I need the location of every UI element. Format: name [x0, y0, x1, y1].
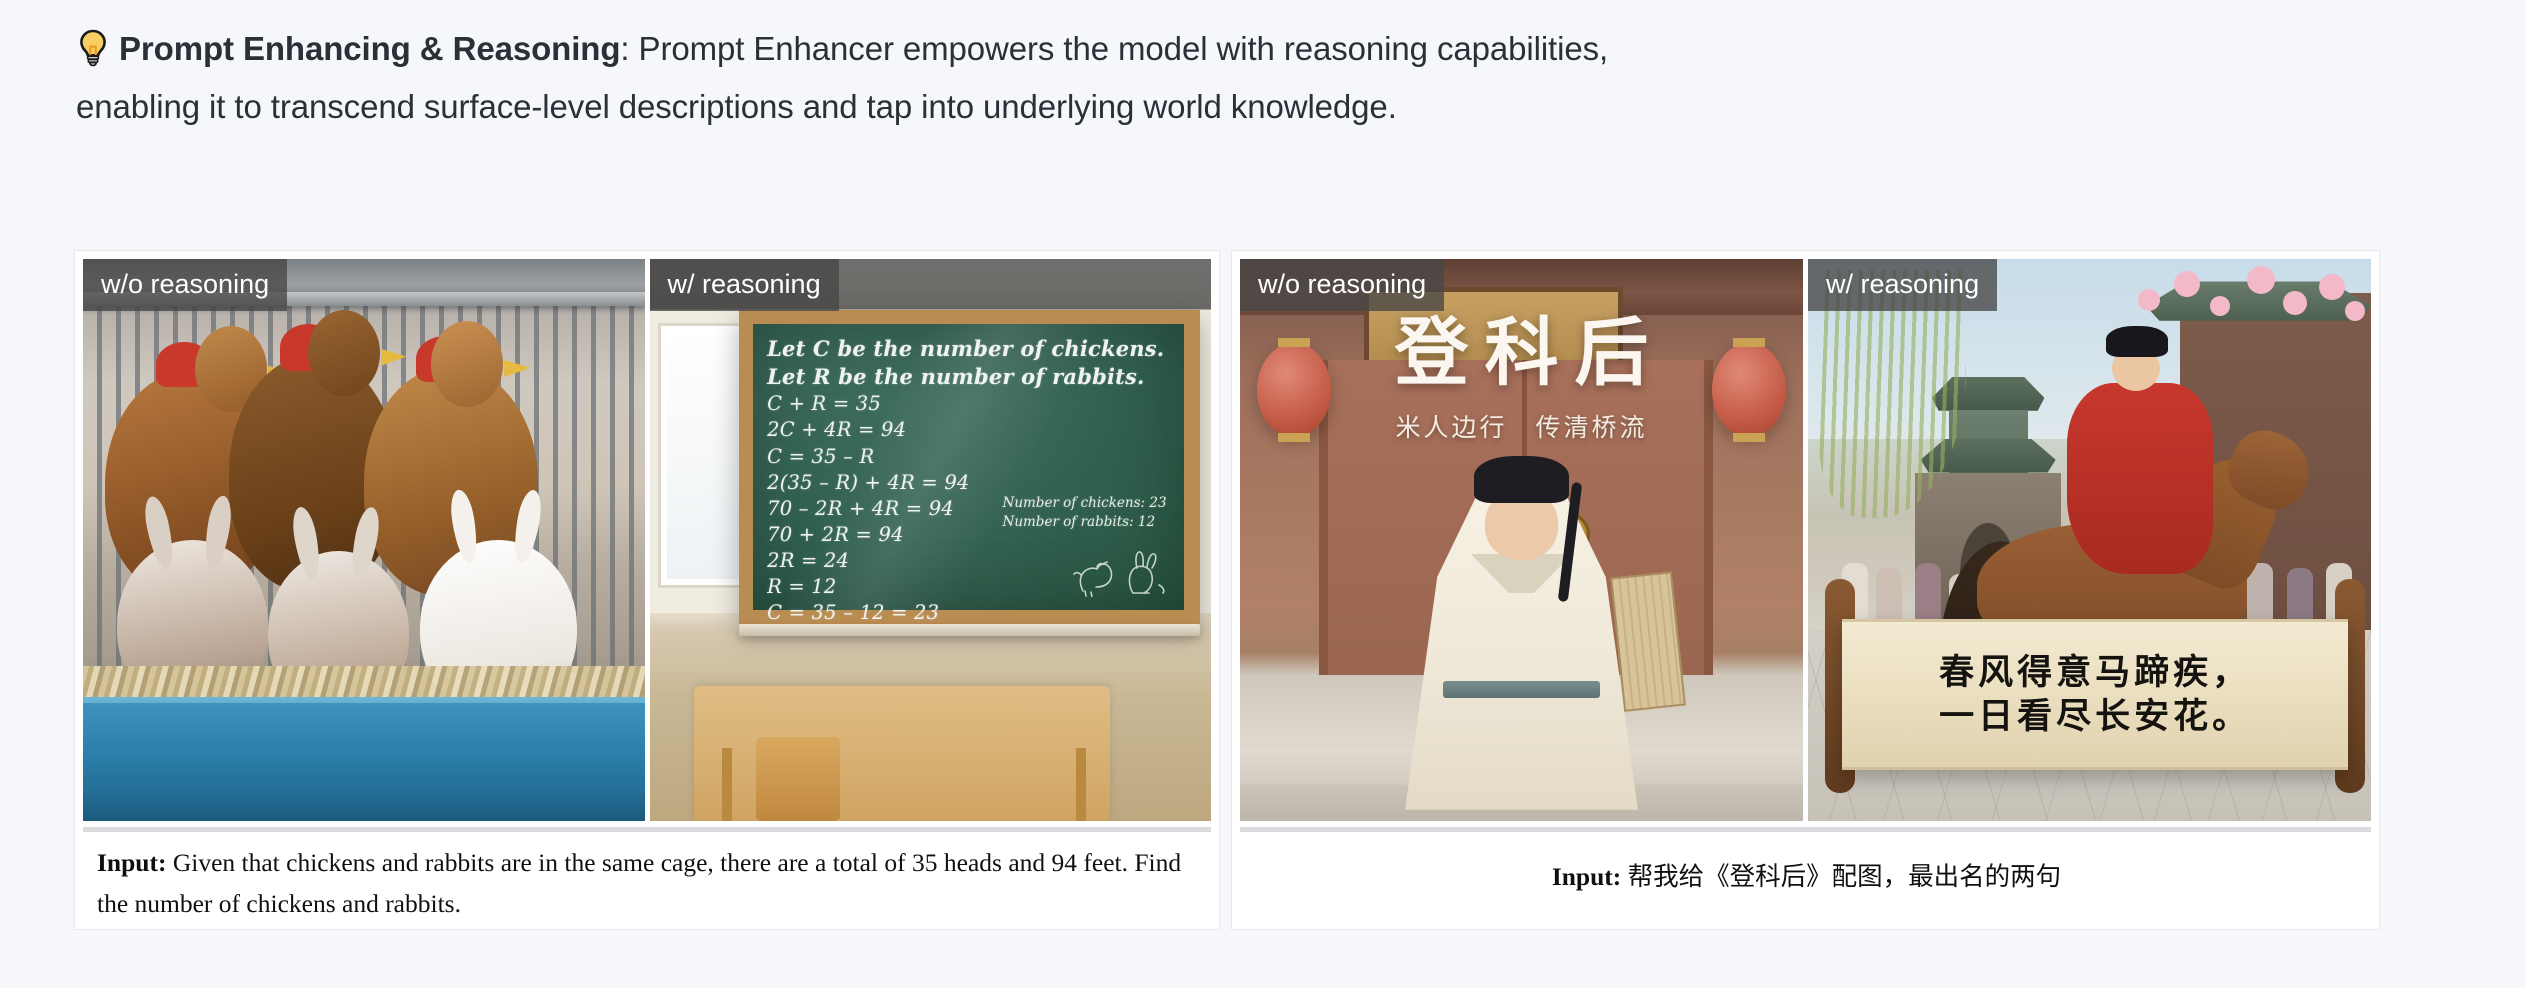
- caption-chickens-rabbits: Input: Given that chickens and rabbits a…: [83, 832, 1211, 930]
- image-row-2: 登科后 米人边行 传清桥流 w/o reasoning: [1240, 259, 2371, 821]
- blackboard-answer-note: Number of chickens: 23 Number of rabbits…: [1003, 494, 1167, 533]
- street-scene-art: 春风得意马蹄疾， 一日看尽长安花。: [1808, 259, 2371, 821]
- blossom: [2247, 266, 2275, 294]
- blackboard-line-1: Let R be the number of rabbits.: [767, 363, 1171, 391]
- blackboard-line-5: 2(35 – R) + 4R = 94: [767, 470, 1171, 496]
- image-row-1: w/o reasoning Let C be the number of chi…: [83, 259, 1211, 821]
- caption-text-1: Given that chickens and rabbits are in t…: [97, 848, 1181, 918]
- header-line-2: enabling it to transcend surface-level d…: [76, 78, 2376, 136]
- scroll-poem-line-1: 春风得意马蹄疾，: [1939, 651, 2251, 695]
- blackboard-note-chickens: Number of chickens: 23: [1003, 494, 1167, 514]
- blossom: [2345, 301, 2365, 321]
- caption-label-1: Input:: [97, 848, 166, 877]
- classroom-art: Let C be the number of chickens. Let R b…: [650, 259, 1212, 821]
- header-title-rest: : Prompt Enhancer empowers the model wit…: [620, 30, 1608, 67]
- section-header: Prompt Enhancing & Reasoning: Prompt Enh…: [76, 20, 2376, 136]
- hen-3-head: [431, 321, 503, 407]
- scroll-poem: 春风得意马蹄疾， 一日看尽长安花。: [1939, 651, 2251, 739]
- calligraphy-scroll: 春风得意马蹄疾， 一日看尽长安花。: [1842, 619, 2349, 771]
- image-chickens-rabbits-without-reasoning[interactable]: w/o reasoning: [83, 259, 645, 821]
- gate-poster-art: 登科后 米人边行 传清桥流: [1240, 259, 1803, 821]
- hen-2-head: [308, 310, 380, 396]
- blossom: [2174, 271, 2200, 297]
- rider-hat: [2106, 326, 2168, 357]
- blackboard-line-3: 2C + 4R = 94: [767, 417, 1171, 443]
- image-blackboard-with-reasoning[interactable]: Let C be the number of chickens. Let R b…: [650, 259, 1212, 821]
- label-without-reasoning-1: w/o reasoning: [83, 259, 287, 311]
- header-line-1: Prompt Enhancing & Reasoning: Prompt Enh…: [76, 20, 2376, 78]
- blackboard-line-4: C = 35 – R: [767, 444, 1171, 470]
- caption-text-2: 帮我给《登科后》配图，最出名的两句: [1621, 862, 2061, 891]
- blackboard-line-0: Let C be the number of chickens.: [767, 335, 1171, 363]
- label-without-reasoning-2: w/o reasoning: [1240, 259, 1444, 311]
- blackboard-line-10: C = 35 – 12 = 23: [767, 600, 1171, 626]
- image-horseman-with-reasoning[interactable]: 春风得意马蹄疾， 一日看尽长安花。 w/ reasoning: [1808, 259, 2371, 821]
- desk-leg-right: [1076, 748, 1086, 821]
- scroll-poem-line-2: 一日看尽长安花。: [1939, 695, 2251, 739]
- chalk-tray: [739, 624, 1199, 636]
- classroom-chair: [756, 737, 840, 821]
- lightbulb-icon: [76, 27, 110, 65]
- figure-strip: w/o reasoning Let C be the number of chi…: [74, 250, 2380, 930]
- header-title-strong: Prompt Enhancing & Reasoning: [119, 30, 620, 67]
- poster-subtitle: 米人边行 传清桥流: [1240, 408, 1803, 444]
- chalk-doodle-chicken-rabbit: [1073, 541, 1169, 602]
- cage-photo-art: [83, 259, 645, 821]
- blossom: [2210, 296, 2230, 316]
- blossom: [2283, 291, 2307, 315]
- label-with-reasoning-2: w/ reasoning: [1808, 259, 1997, 311]
- scholar-hat: [1474, 456, 1570, 504]
- caption-label-2: Input:: [1552, 862, 1621, 891]
- panel-chickens-rabbits: w/o reasoning Let C be the number of chi…: [74, 250, 1220, 930]
- label-with-reasoning-1: w/ reasoning: [650, 259, 839, 311]
- scholar-sash: [1443, 681, 1601, 699]
- image-scholar-without-reasoning[interactable]: 登科后 米人边行 传清桥流 w/o reasoning: [1240, 259, 1803, 821]
- blossom: [2138, 289, 2160, 311]
- blackboard-line-2: C + R = 35: [767, 391, 1171, 417]
- blossom: [2319, 274, 2345, 300]
- classroom-window: [661, 326, 751, 585]
- blackboard: Let C be the number of chickens. Let R b…: [739, 310, 1199, 625]
- caption-dengkehou: Input: 帮我给《登科后》配图，最出名的两句: [1240, 832, 2371, 929]
- blue-tray: [83, 703, 645, 821]
- desk-leg-left: [722, 748, 732, 821]
- rider-robe: [2067, 383, 2213, 574]
- panel-dengkehou: 登科后 米人边行 传清桥流 w/o reasoning: [1231, 250, 2380, 930]
- blackboard-note-rabbits: Number of rabbits: 12: [1003, 513, 1167, 533]
